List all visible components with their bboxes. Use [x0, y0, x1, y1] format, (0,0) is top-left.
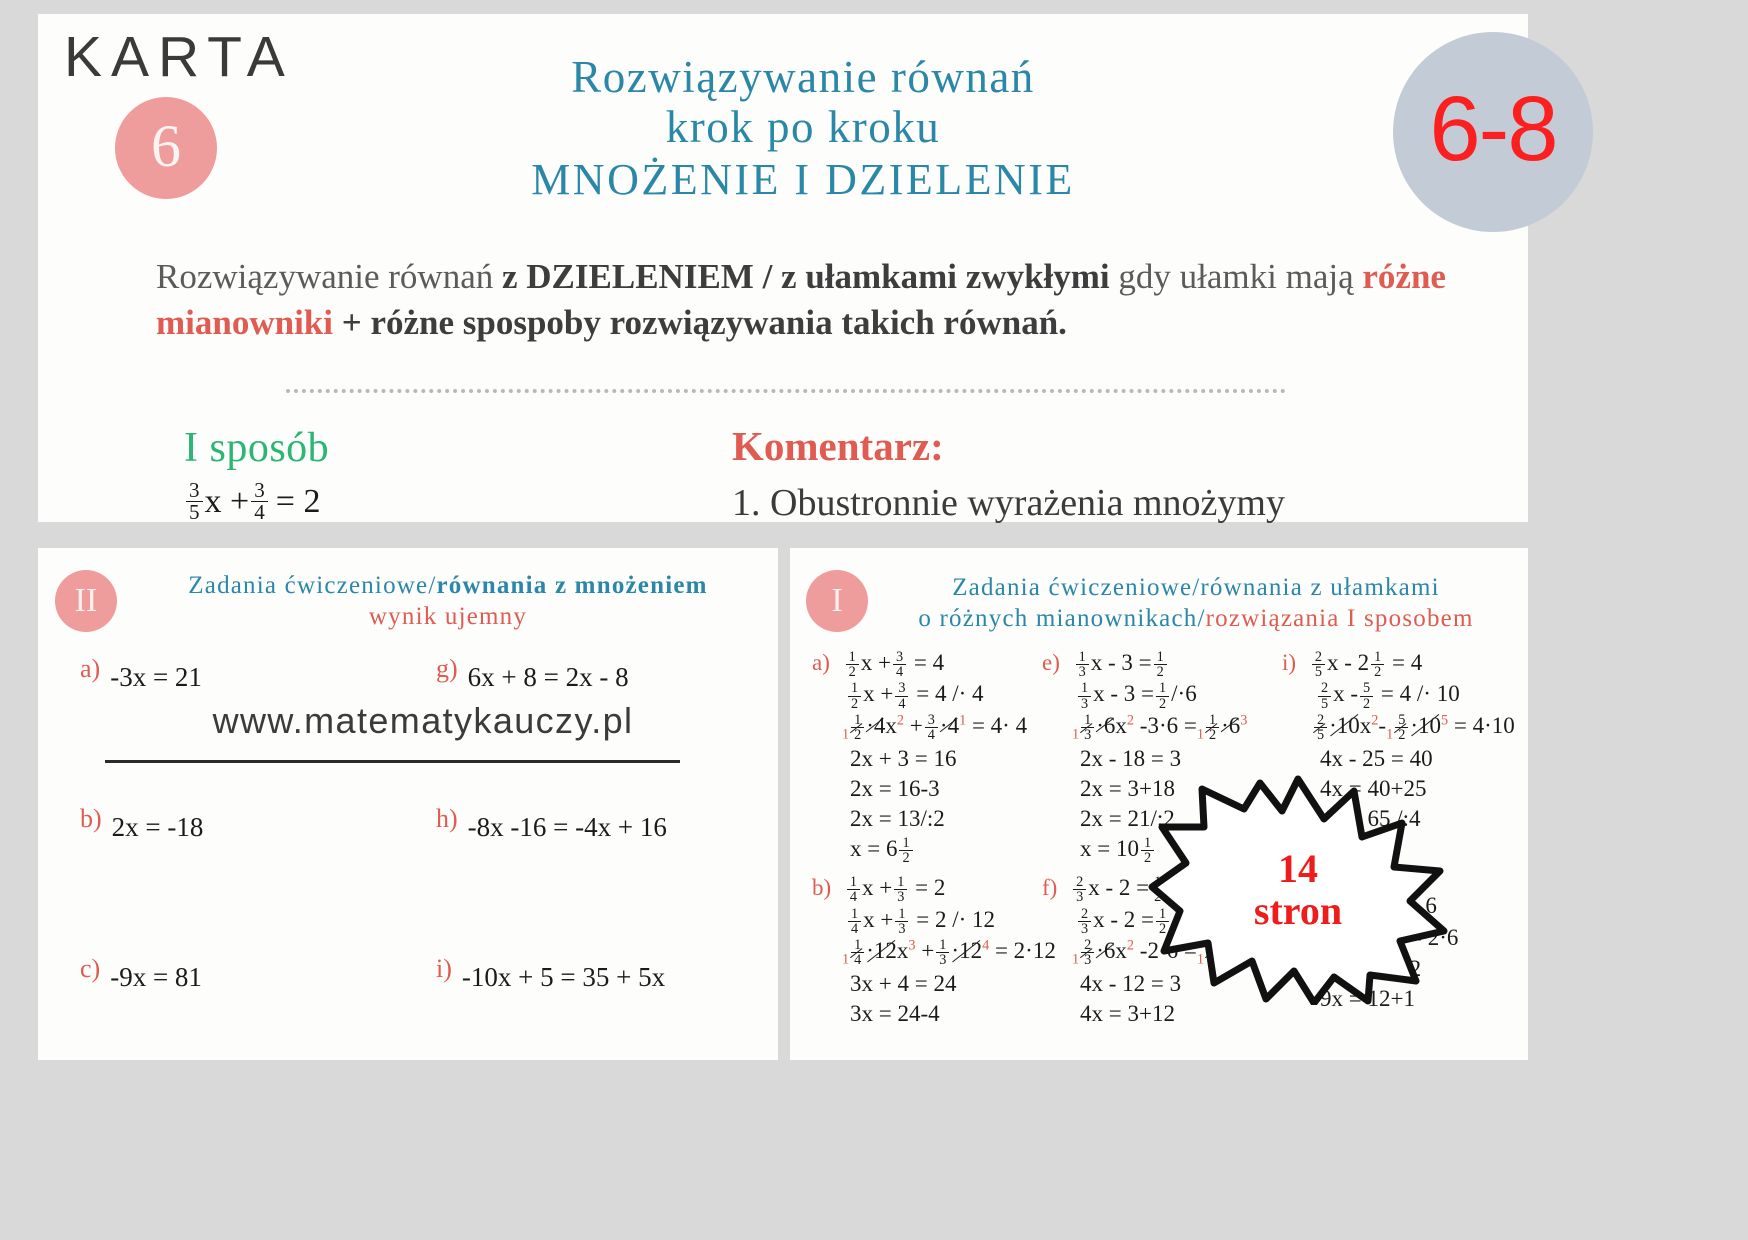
exercise-a: a) -3x = 21: [80, 653, 202, 684]
section-badge-two-label: II: [75, 582, 98, 620]
section-badge-one-label: I: [831, 582, 842, 620]
exercise-i-equation: -10x + 5 = 35 + 5x: [462, 962, 665, 992]
solution-i-step-4: 4x - 25 = 40: [1320, 744, 1522, 774]
solution-e-step-4: 2x - 18 = 3: [1080, 744, 1272, 774]
solution-b-step-2: 14x +13 = 2 /· 12: [846, 905, 1032, 936]
panel-two-heading-sub: wynik ujemny: [369, 603, 527, 630]
exercise-a-equation: -3x = 21: [110, 662, 202, 692]
header-panel: KARTA 6 Rozwiązywanie równań krok po kro…: [38, 14, 1528, 522]
solution-b-step-4: 3x + 4 = 24: [850, 969, 1032, 999]
fraction-3-4: 3 4: [251, 480, 268, 523]
section-badge-one: I: [806, 570, 868, 632]
solution-a-tag: a): [812, 650, 830, 675]
solution-f-tag: f): [1042, 875, 1057, 900]
solution-b-tag: b): [812, 875, 831, 900]
solution-a-header: a) 12x +34 = 4: [812, 648, 1032, 679]
desc-part-2: gdy ułamki mają: [1110, 257, 1363, 296]
panel-two-heading-plain: Zadania ćwiczeniowe/: [188, 572, 436, 599]
exercises-panel-two: II Zadania ćwiczeniowe/równania z mnożen…: [38, 548, 778, 1060]
karta-number-badge: 6: [115, 97, 217, 199]
solution-i-header: i) 25x - 212 = 4: [1282, 648, 1522, 679]
exercise-g-tag: g): [436, 654, 458, 683]
solution-a: a) 12x +34 = 4 12x +34 = 4 /· 4 112·4x2 …: [812, 648, 1032, 1029]
exercise-h: h) -8x -16 = -4x + 16: [436, 803, 667, 834]
method-label: I sposób: [184, 424, 329, 472]
exercise-h-tag: h): [436, 804, 458, 833]
desc-part-1: Rozwiązywanie równań: [156, 257, 502, 296]
equation-var: x +: [205, 483, 250, 521]
panel-one-heading-line-1: Zadania ćwiczeniowe/równania z ułamkami: [952, 574, 1440, 601]
exercise-i: i) -10x + 5 = 35 + 5x: [436, 953, 665, 984]
solution-b-step-3: 114·12x3 +13·124 = 2·12: [842, 936, 1032, 969]
solution-a-step-4: 2x + 3 = 16: [850, 744, 1032, 774]
solution-e-step-2: 13x - 3 =12/·6: [1076, 679, 1272, 710]
starburst-line-1: 14: [1278, 848, 1318, 890]
solution-a-step-2: 12x +34 = 4 /· 4: [846, 679, 1032, 710]
site-watermark: www.matematykauczy.pl: [163, 700, 683, 742]
panel-one-heading-line-2: o różnych mianownikach/: [918, 605, 1205, 632]
panel-one-heading-line-2-red: rozwiązania I sposobem: [1206, 605, 1474, 632]
exercise-g: g) 6x + 8 = 2x - 8: [436, 653, 629, 684]
solution-a-step-3: 112·4x2 +34·41 = 4· 4: [842, 711, 1032, 744]
solution-i-step-3: 25·10x2-152·105 = 4·10: [1312, 711, 1522, 744]
solution-a-step-7: x = 612: [850, 834, 1032, 865]
title-line-2: krok po kroku: [438, 102, 1168, 152]
title-line-3: MNOŻENIE I DZIELENIE: [438, 155, 1168, 204]
exercise-h-equation: -8x -16 = -4x + 16: [468, 812, 667, 842]
starburst-line-2: stron: [1254, 890, 1342, 932]
description-text: Rozwiązywanie równań z DZIELENIEM / z uł…: [156, 254, 1496, 345]
starburst-text: 14 stron: [1148, 775, 1448, 1005]
watermark-underline: [105, 760, 680, 763]
desc-bold-2: + różne spospoby rozwiązywania takich ró…: [333, 303, 1067, 342]
exercise-g-equation: 6x + 8 = 2x - 8: [468, 662, 629, 692]
solution-a-step-6: 2x = 13/:2: [850, 804, 1032, 834]
panel-one-heading: Zadania ćwiczeniowe/równania z ułamkami …: [876, 572, 1516, 635]
solution-e-step-3: 113·6x2 -3·6 =112·63: [1072, 711, 1272, 744]
karta-word: KARTA: [64, 24, 294, 90]
exercise-c-tag: c): [80, 954, 100, 983]
grade-range-badge: 6-8: [1393, 32, 1593, 232]
solution-b-header: b) 14x +13 = 2: [812, 873, 1032, 904]
solution-e-header: e) 13x - 3 =12: [1042, 648, 1272, 679]
karta-number: 6: [151, 116, 181, 176]
title-line-1: Rozwiązywanie równań: [438, 52, 1168, 102]
solution-i-tag: i): [1282, 650, 1296, 675]
panel-two-heading: Zadania ćwiczeniowe/równania z mnożeniem…: [128, 570, 768, 633]
exercise-c-equation: -9x = 81: [110, 962, 202, 992]
exercise-c: c) -9x = 81: [80, 953, 202, 984]
solution-i-step-2: 25x -52 = 4 /· 10: [1316, 679, 1522, 710]
panel-two-heading-bold: równania z mnożeniem: [436, 572, 707, 599]
solution-a-step-5: 2x = 16-3: [850, 774, 1032, 804]
exercise-b-tag: b): [80, 804, 102, 833]
dotted-divider: [286, 389, 1286, 393]
exercise-b-equation: 2x = -18: [112, 812, 204, 842]
exercise-i-tag: i): [436, 954, 452, 983]
exercise-a-tag: a): [80, 654, 100, 683]
comment-label: Komentarz:: [732, 422, 944, 470]
desc-bold-1: z DZIELENIEM / z ułamkami zwykłymi: [502, 257, 1110, 296]
grade-range-text: 6-8: [1430, 77, 1557, 182]
comment-line-1: 1. Obustronnie wyrażenia mnożymy: [732, 481, 1285, 525]
section-badge-two: II: [55, 570, 117, 632]
fraction-3-5: 3 5: [186, 480, 203, 523]
method-equation: 3 5 x + 3 4 = 2: [184, 480, 320, 523]
solution-e-tag: e): [1042, 650, 1060, 675]
pages-count-starburst: 14 stron: [1148, 775, 1448, 1005]
page-title: Rozwiązywanie równań krok po kroku MNOŻE…: [438, 52, 1168, 204]
exercise-b: b) 2x = -18: [80, 803, 203, 834]
equation-tail: = 2: [276, 483, 321, 521]
solution-b-step-5: 3x = 24-4: [850, 999, 1032, 1029]
